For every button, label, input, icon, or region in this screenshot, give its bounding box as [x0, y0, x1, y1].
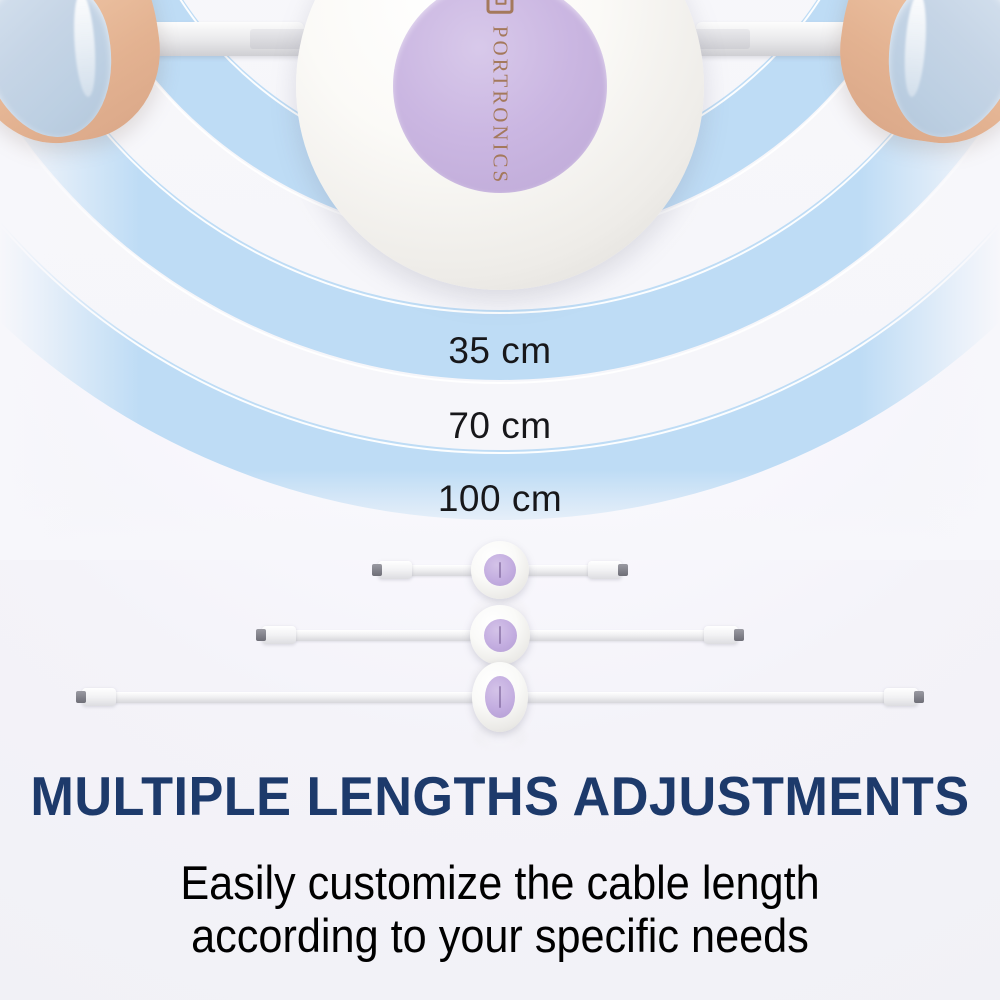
brand-lockup: PORTRONICS — [487, 0, 514, 185]
cable-wire-left-100cm — [92, 692, 482, 703]
cable-illustration-70cm — [0, 600, 1000, 670]
cable-connector-left-100cm — [82, 688, 116, 706]
cable-illustration-100cm — [0, 662, 1000, 732]
cable-connector-tip-right-35cm — [618, 564, 628, 576]
cable-connector-tip-left-70cm — [256, 629, 266, 641]
right-fingernail — [870, 0, 1000, 151]
cable-connector-tip-left-100cm — [76, 691, 86, 703]
cable-connector-tip-right-100cm — [914, 691, 924, 703]
cable-illustration-35cm — [0, 535, 1000, 605]
cable-wire-right-70cm — [496, 630, 728, 641]
distance-label-70cm: 70 cm — [0, 405, 1000, 447]
cable-connector-right-35cm — [588, 561, 622, 579]
cable-connector-right-100cm — [884, 688, 918, 706]
brand-name: PORTRONICS — [488, 26, 513, 185]
cable-connector-left-35cm — [378, 561, 412, 579]
cable-hub-disc-35cm — [484, 554, 516, 586]
portronics-logo-icon — [487, 0, 514, 14]
cable-hub-disc-100cm — [485, 676, 515, 718]
cable-wire-right-100cm — [518, 692, 908, 703]
cable-connector-tip-left-35cm — [372, 564, 382, 576]
subtitle-line-2: according to your specific needs — [40, 908, 960, 963]
cable-connector-tip-right-70cm — [734, 629, 744, 641]
cable-connector-left-70cm — [262, 626, 296, 644]
left-fingernail — [0, 0, 130, 151]
cable-hub-disc-70cm — [484, 619, 517, 652]
distance-label-100cm: 100 cm — [0, 478, 1000, 520]
cable-connector-right-70cm — [704, 626, 738, 644]
cable-hub-35cm — [471, 541, 529, 599]
subtitle-line-1: Easily customize the cable length — [40, 855, 960, 910]
distance-label-35cm: 35 cm — [0, 330, 1000, 372]
cable-hub-100cm — [472, 662, 528, 732]
product-marketing-image: 35 cm 70 cm 100 cm PORTRONICS — [0, 0, 1000, 1000]
cable-hub-70cm — [470, 605, 530, 665]
headline: MULTIPLE LENGTHS ADJUSTMENTS — [25, 764, 975, 828]
hub-brand-disc: PORTRONICS — [393, 0, 607, 193]
